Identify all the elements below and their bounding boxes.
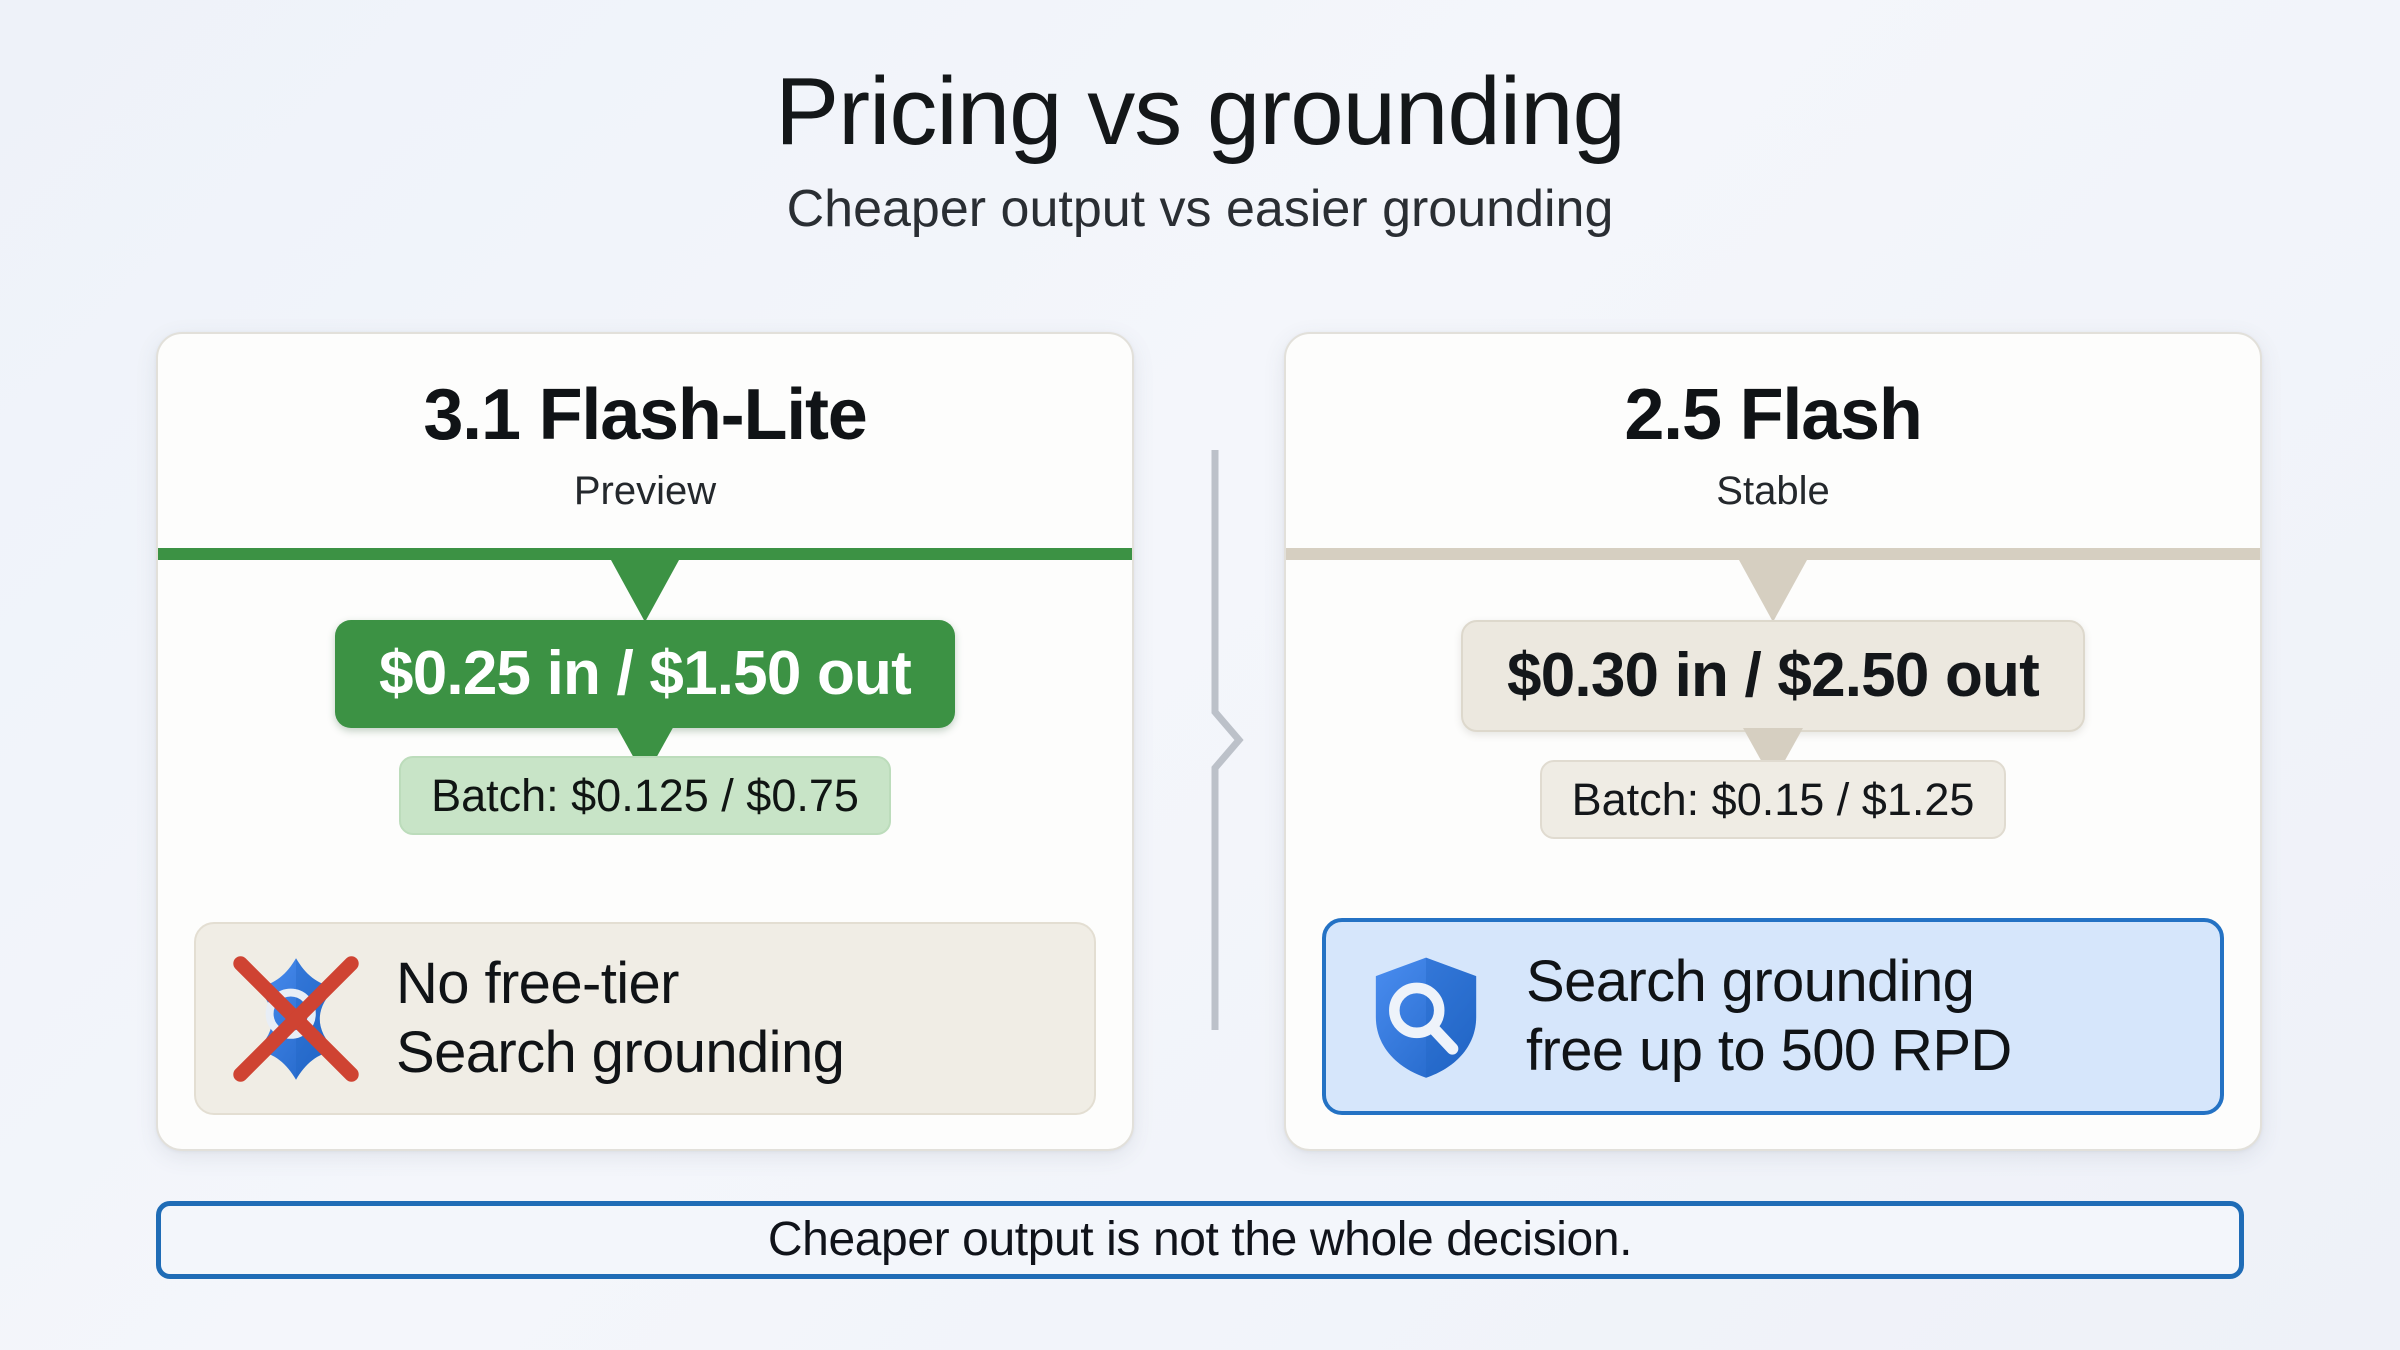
model-card-flash-25[interactable]: 2.5 Flash Stable $0.30 in / $2.50 out Ba… bbox=[1284, 332, 2262, 1151]
divider-arrow-icon bbox=[611, 560, 679, 622]
footer-banner: Cheaper output is not the whole decision… bbox=[156, 1201, 2244, 1279]
card-status-label: Stable bbox=[1286, 470, 2260, 512]
batch-chip-area: Batch: $0.15 / $1.25 bbox=[1286, 760, 2260, 840]
feature-panel-no-free-tier[interactable]: No free-tier Search grounding bbox=[194, 922, 1096, 1115]
footer-text: Cheaper output is not the whole decision… bbox=[768, 1216, 1632, 1264]
search-grounding-shield-icon bbox=[1360, 951, 1492, 1083]
header: Pricing vs grounding Cheaper output vs e… bbox=[0, 62, 2400, 238]
feature-label: Search grounding free up to 500 RPD bbox=[1526, 948, 2012, 1085]
batch-chip: Batch: $0.15 / $1.25 bbox=[1540, 760, 2007, 840]
price-chip-area: $0.30 in / $2.50 out bbox=[1286, 620, 2260, 732]
feature-panel-search-grounding[interactable]: Search grounding free up to 500 RPD bbox=[1322, 918, 2224, 1115]
price-chip: $0.30 in / $2.50 out bbox=[1461, 620, 2085, 732]
card-header-flash-lite: 3.1 Flash-Lite Preview bbox=[158, 334, 1132, 512]
card-divider-green bbox=[158, 548, 1132, 560]
page-subtitle: Cheaper output vs easier grounding bbox=[0, 181, 2400, 238]
feature-label: No free-tier Search grounding bbox=[396, 950, 844, 1087]
batch-chip: Batch: $0.125 / $0.75 bbox=[399, 756, 891, 836]
card-title: 3.1 Flash-Lite bbox=[158, 378, 1132, 454]
divider-bar bbox=[158, 548, 1132, 560]
price-chip: $0.25 in / $1.50 out bbox=[335, 620, 955, 728]
divider-bar bbox=[1286, 548, 2260, 560]
search-grounding-disabled-icon bbox=[230, 953, 362, 1085]
slide-root: Pricing vs grounding Cheaper output vs e… bbox=[0, 0, 2400, 1350]
card-divider-tan bbox=[1286, 548, 2260, 560]
batch-chip-area: Batch: $0.125 / $0.75 bbox=[158, 756, 1132, 836]
page-title: Pricing vs grounding bbox=[0, 62, 2400, 163]
card-header-flash-25: 2.5 Flash Stable bbox=[1286, 334, 2260, 512]
card-title: 2.5 Flash bbox=[1286, 378, 2260, 454]
model-card-flash-lite[interactable]: 3.1 Flash-Lite Preview $0.25 in / $1.50 … bbox=[156, 332, 1134, 1151]
price-chip-area: $0.25 in / $1.50 out bbox=[158, 620, 1132, 728]
divider-arrow-icon bbox=[1739, 560, 1807, 622]
card-comparison-connector bbox=[1197, 450, 1257, 1030]
card-status-label: Preview bbox=[158, 470, 1132, 512]
